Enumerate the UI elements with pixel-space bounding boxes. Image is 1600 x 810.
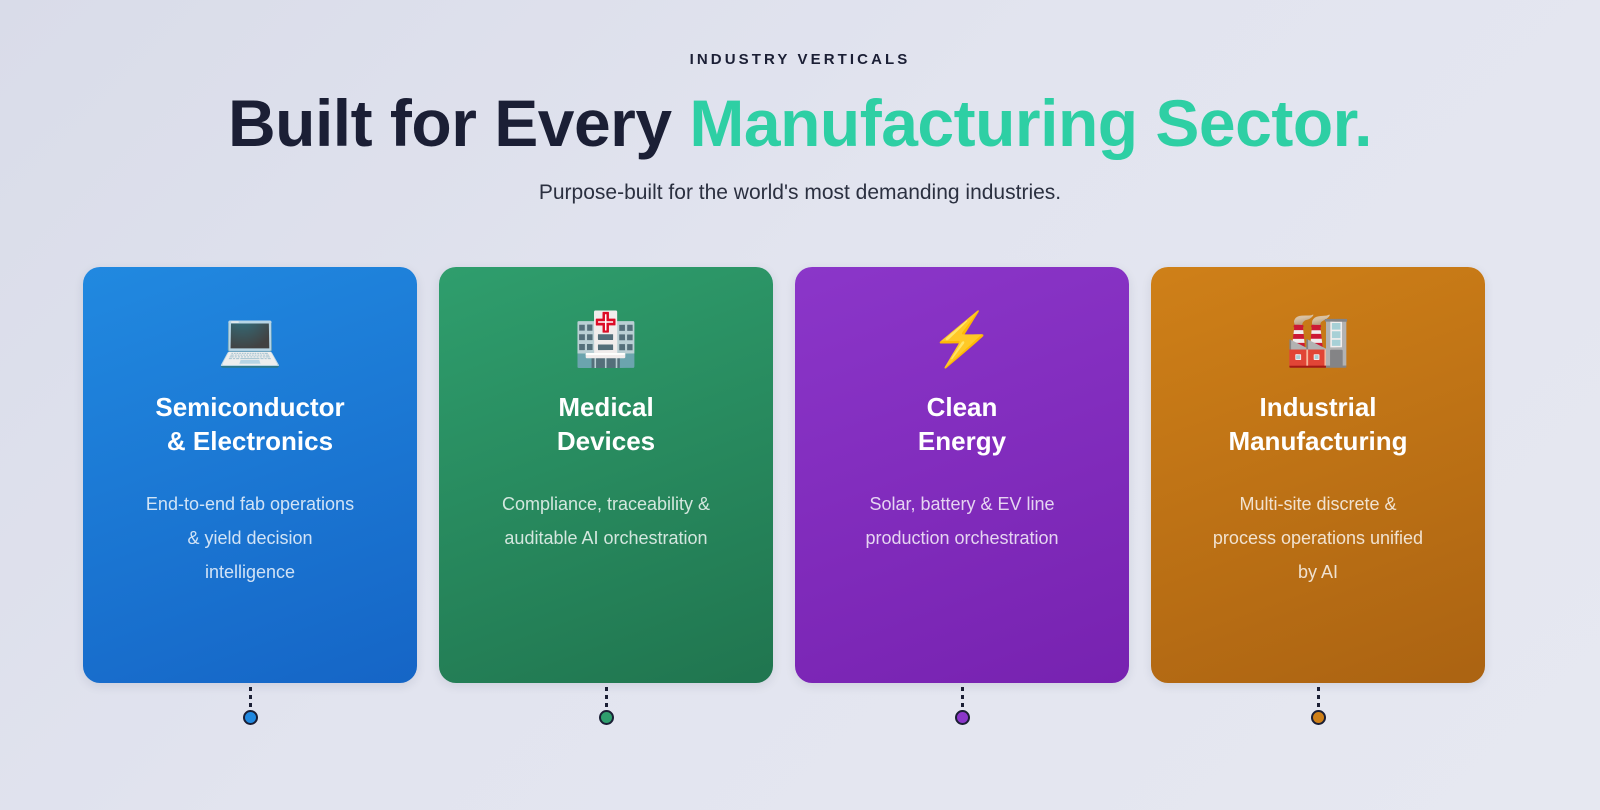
industry-card-wrapper: 💻Semiconductor & ElectronicsEnd-to-end f… (83, 267, 417, 725)
hospital-icon: 🏥 (465, 311, 747, 369)
industry-card[interactable]: 💻Semiconductor & ElectronicsEnd-to-end f… (83, 267, 417, 683)
industry-card-title: Clean Energy (821, 390, 1103, 458)
industry-card-description: Multi-site discrete & process operations… (1177, 487, 1459, 589)
card-connector-dot (955, 710, 970, 725)
industry-card[interactable]: ⚡Clean EnergySolar, battery & EV line pr… (795, 267, 1129, 683)
section-header: INDUSTRY VERTICALS Built for Every Manuf… (0, 0, 1600, 205)
industry-card-title: Medical Devices (465, 390, 747, 458)
card-connector-dot (1311, 710, 1326, 725)
section-eyebrow: INDUSTRY VERTICALS (0, 52, 1600, 67)
section-subtitle: Purpose-built for the world's most deman… (0, 180, 1600, 205)
industry-card[interactable]: 🏭Industrial ManufacturingMulti-site disc… (1151, 267, 1485, 683)
card-connector-dot (599, 710, 614, 725)
lightning-bolt-icon: ⚡ (821, 311, 1103, 369)
card-connector-line (249, 687, 252, 709)
card-connector-line (605, 687, 608, 709)
industry-card-grid: 💻Semiconductor & ElectronicsEnd-to-end f… (83, 267, 1509, 725)
headline-lead: Built for Every (228, 86, 689, 160)
industry-card-wrapper: 🏥Medical DevicesCompliance, traceability… (439, 267, 773, 725)
page-title: Built for Every Manufacturing Sector. (0, 90, 1600, 158)
card-connector-line (1317, 687, 1320, 709)
industry-card-wrapper: ⚡Clean EnergySolar, battery & EV line pr… (795, 267, 1129, 725)
industry-card-description: Solar, battery & EV line production orch… (821, 487, 1103, 555)
laptop-icon: 💻 (109, 311, 391, 369)
headline-accent: Manufacturing Sector. (689, 86, 1372, 160)
industry-card[interactable]: 🏥Medical DevicesCompliance, traceability… (439, 267, 773, 683)
card-connector-dot (243, 710, 258, 725)
industry-card-title: Industrial Manufacturing (1177, 390, 1459, 458)
industry-card-wrapper: 🏭Industrial ManufacturingMulti-site disc… (1151, 267, 1485, 725)
industry-card-title: Semiconductor & Electronics (109, 390, 391, 458)
factory-icon: 🏭 (1177, 311, 1459, 369)
industry-card-description: End-to-end fab operations & yield decisi… (109, 487, 391, 589)
card-connector-line (961, 687, 964, 709)
industry-card-description: Compliance, traceability & auditable AI … (465, 487, 747, 555)
